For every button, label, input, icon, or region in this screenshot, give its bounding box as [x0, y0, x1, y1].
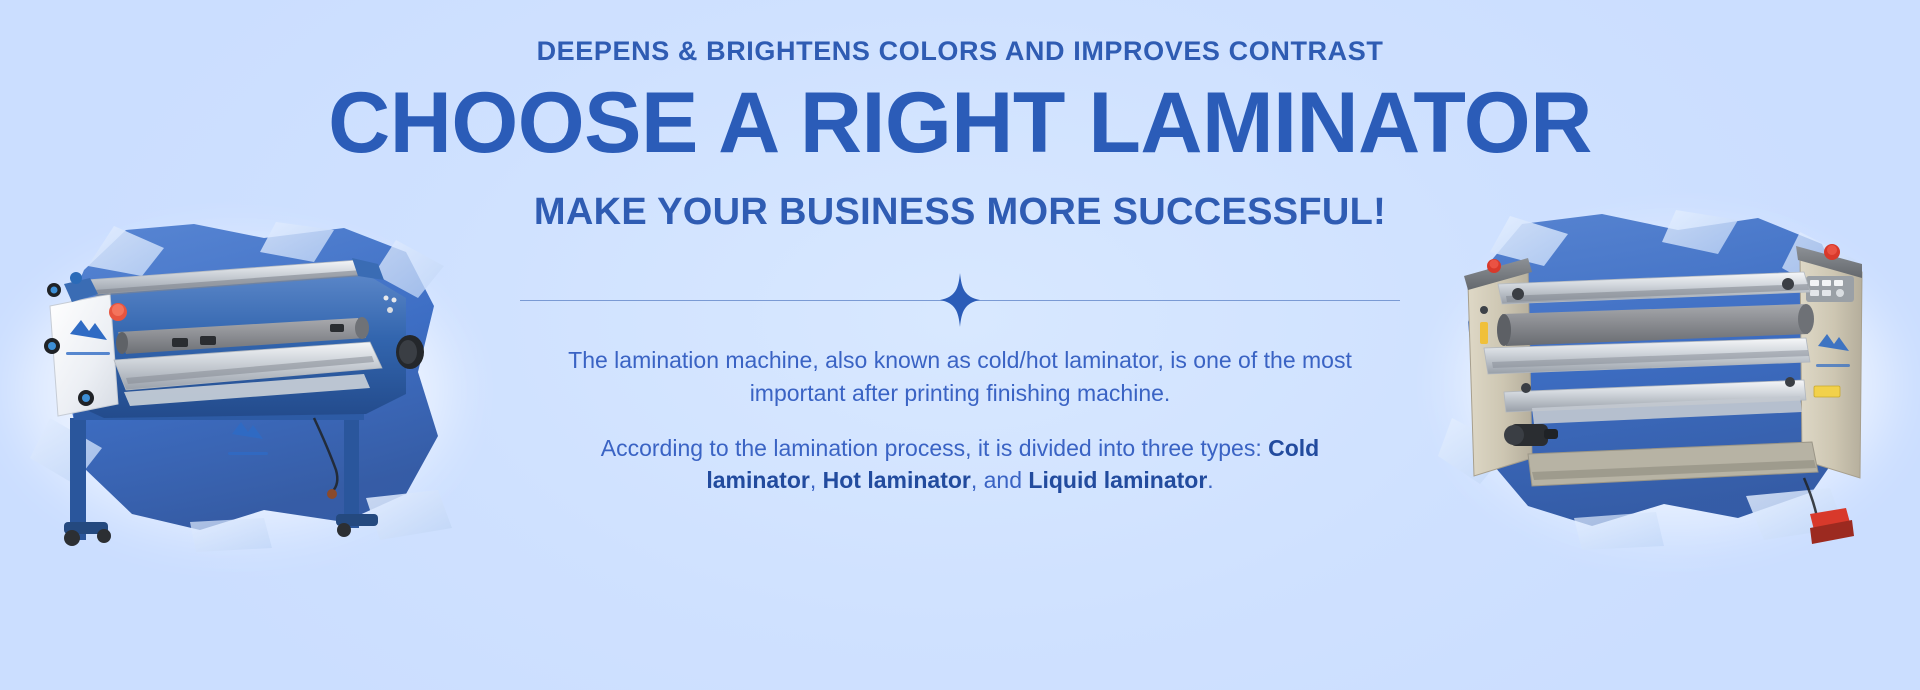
description-copy: The lamination machine, also known as co…: [560, 344, 1360, 497]
foot-pedal: [1810, 508, 1854, 544]
emphasis-term: Liquid laminator: [1028, 467, 1207, 493]
top-roller-bar: [1498, 272, 1810, 304]
laminator-stand: [64, 408, 378, 546]
product-image-cold-laminator: [14, 222, 484, 552]
page-title: CHOOSE A RIGHT LAMINATOR: [328, 81, 1592, 165]
product-image-hot-laminator: [1432, 210, 1902, 550]
section-divider: [520, 270, 1400, 330]
sparkle-icon: [940, 273, 980, 327]
promo-banner: DEEPENS & BRIGHTENS COLORS AND IMPROVES …: [0, 0, 1920, 690]
subheadline: MAKE YOUR BUSINESS MORE SUCCESSFUL!: [534, 191, 1386, 234]
crank-handle: [1504, 424, 1558, 446]
control-panel: [1806, 276, 1854, 302]
paragraph-1: The lamination machine, also known as co…: [560, 344, 1360, 409]
lower-rollers: [1504, 377, 1806, 424]
eyebrow-tagline: DEEPENS & BRIGHTENS COLORS AND IMPROVES …: [537, 36, 1384, 67]
emphasis-term: Hot laminator: [823, 467, 971, 493]
paragraph-2: According to the lamination process, it …: [560, 432, 1360, 497]
cold-laminator-illustration: [14, 222, 484, 552]
emphasis-term: Cold laminator: [706, 435, 1319, 494]
hot-laminator-illustration: [1432, 210, 1902, 550]
